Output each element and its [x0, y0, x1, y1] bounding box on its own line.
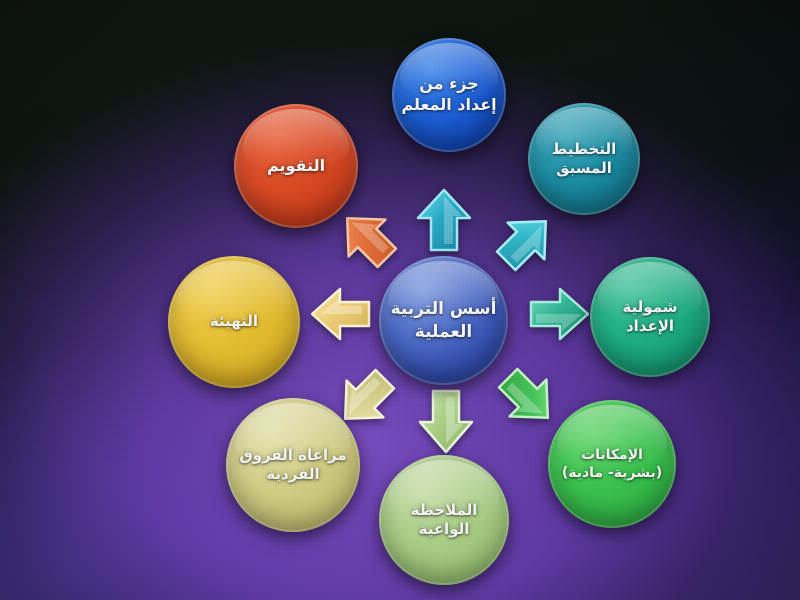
node-bottom-label: الملاحظة الواعية	[379, 501, 509, 540]
node-top-right[interactable]: التخطيط المسبق	[528, 103, 640, 215]
node-top-left-label: التقويم	[259, 156, 333, 177]
node-bottom-left[interactable]: مراعاة الفروق الفردية	[226, 398, 360, 532]
arrow-down-right-icon	[497, 367, 559, 429]
node-top-right-label: التخطيط المسبق	[528, 140, 640, 179]
arrow-left-icon	[310, 287, 372, 341]
arrow-right-icon	[528, 287, 590, 341]
node-top-left[interactable]: التقويم	[234, 104, 358, 228]
node-bottom-left-label: مراعاة الفروق الفردية	[226, 446, 360, 485]
arrow-down-icon	[418, 388, 474, 454]
node-bottom[interactable]: الملاحظة الواعية	[379, 455, 509, 585]
diagram-canvas: جزء من إعداد المعلم التخطيط المسبق شمولي…	[0, 0, 800, 600]
node-top[interactable]: جزء من إعداد المعلم	[392, 38, 506, 152]
arrow-up-right-icon	[495, 210, 557, 272]
arrow-up-left-icon	[336, 207, 398, 269]
node-bottom-right[interactable]: الإمكانات (بشرية- مادية)	[548, 400, 676, 528]
arrow-up-icon	[416, 188, 472, 252]
node-left-label: التهيئة	[202, 312, 266, 332]
node-left[interactable]: التهيئة	[168, 256, 300, 388]
center-node-label: أسس التربية العملية	[379, 298, 508, 342]
center-node[interactable]: أسس التربية العملية	[379, 256, 508, 385]
node-top-label: جزء من إعداد المعلم	[392, 74, 506, 116]
node-right[interactable]: شمولية الإعداد	[590, 257, 710, 377]
node-right-label: شمولية الإعداد	[590, 298, 710, 337]
node-bottom-right-label: الإمكانات (بشرية- مادية)	[548, 446, 676, 482]
